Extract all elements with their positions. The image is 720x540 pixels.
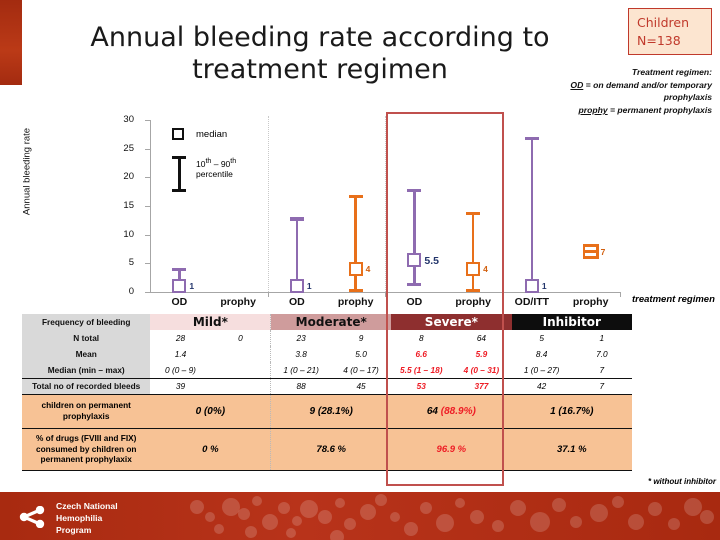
cell: 0 (0%) [150, 394, 270, 428]
cell: 9 [331, 330, 391, 346]
y-tick-15: 15 [108, 200, 134, 211]
group-separator [385, 116, 386, 292]
cell [211, 362, 271, 378]
cell: 0 [211, 330, 271, 346]
y-tick-20: 20 [108, 171, 134, 182]
cell: 1 [572, 330, 632, 346]
cell: 5.5 (1 – 18) [391, 362, 451, 378]
regimen-od-line: OD = on demand and/or temporary prophyla… [532, 79, 712, 104]
group-separator [503, 116, 504, 292]
logo-line-3: Program [56, 525, 118, 537]
logo-line-2: Hemophilia [56, 513, 118, 525]
cell: 8.4 [512, 346, 572, 362]
decorative-bubble [590, 504, 608, 522]
y-axis-line [150, 120, 151, 292]
decorative-bubble [530, 512, 550, 532]
row-label: % of drugs (FVIII and FIX) consumed by c… [22, 428, 150, 470]
error-bar-cap-upper [407, 189, 421, 192]
error-bar-stem [531, 137, 533, 292]
bleeding-statistics-table: Frequency of bleeding Mild* Moderate* Se… [22, 314, 632, 471]
point-marker [583, 244, 599, 259]
cell: 1.4 [150, 346, 210, 362]
decorative-bubble [245, 526, 257, 538]
cell: 1 (0 – 27) [512, 362, 572, 378]
median-marker [407, 253, 421, 267]
median-marker [290, 279, 304, 293]
legend-median-label: median [196, 129, 227, 140]
decorative-bubble [612, 496, 624, 508]
decorative-bubble [238, 508, 250, 520]
decorative-bubble [360, 504, 376, 520]
cell: 37.1 % [512, 428, 632, 470]
hemophilia-logo-icon [18, 506, 50, 528]
decorative-bubble [390, 512, 400, 522]
decorative-bubble [344, 518, 356, 530]
row-label: Total no of recorded bleeds [22, 378, 150, 394]
x-label-prophy-7: prophy [556, 296, 626, 308]
footer-bar: Czech National Hemophilia Program [0, 492, 720, 540]
decorative-bubble [570, 516, 582, 528]
cell: 377 [451, 378, 511, 394]
decorative-bubble [628, 514, 644, 530]
table-row: Mean 1.4 3.8 5.0 6.6 5.9 8.4 7.0 [22, 346, 632, 362]
error-bar-cap-lower [466, 289, 480, 292]
group-header-mild: Mild* [150, 314, 270, 330]
decorative-bubble [375, 494, 387, 506]
decorative-bubble [684, 498, 702, 516]
cell: 64 [451, 330, 511, 346]
cell: 88 [271, 378, 331, 394]
cell: 96.9 % [391, 428, 511, 470]
decorative-bubble [190, 500, 204, 514]
table-row: Median (min – max) 0 (0 – 9) 1 (0 – 21) … [22, 362, 632, 378]
cell: 6.6 [391, 346, 451, 362]
row-label: children on permanent prophylaxis [22, 394, 150, 428]
value-label: 1 [189, 281, 194, 291]
cell [211, 346, 271, 362]
cell: 53 [391, 378, 451, 394]
cell: 5.0 [331, 346, 391, 362]
decorative-bubble [318, 510, 332, 524]
od-term: OD [570, 80, 583, 90]
decorative-bubble [214, 524, 224, 534]
decorative-bubble [648, 502, 662, 516]
group-header-moderate: Moderate* [271, 314, 391, 330]
children-count-badge: Children N=138 [628, 8, 712, 55]
value-label: 4 [366, 264, 371, 274]
cell: 28 [150, 330, 210, 346]
decorative-bubble [278, 502, 290, 514]
footnote: * without inhibitor [648, 477, 716, 486]
group-header-severe: Severe* [391, 314, 511, 330]
error-bar-cap-lower [349, 289, 363, 292]
cell: 7 [572, 378, 632, 394]
decorative-bubble [335, 498, 345, 508]
value-label: 4 [483, 264, 488, 274]
decorative-bubble [404, 522, 418, 536]
footer-logo-text: Czech National Hemophilia Program [56, 501, 118, 537]
badge-line-children: Children [637, 14, 711, 32]
row-label: Frequency of bleeding [22, 314, 150, 330]
y-tick-5: 5 [108, 257, 134, 268]
value-label: 5.5 [424, 255, 439, 267]
decorative-bubble [252, 496, 262, 506]
decorative-bubble [292, 516, 302, 526]
cell: 7 [572, 362, 632, 378]
decorative-bubble [330, 530, 344, 540]
percentile-bar-icon [172, 156, 186, 192]
median-marker [466, 262, 480, 276]
bleeding-rate-chart: Annual bleeding rate 051015202530 1145.5… [0, 108, 720, 320]
cell: 4 (0 – 17) [331, 362, 391, 378]
row-label: Mean [22, 346, 150, 362]
decorative-bubble [300, 500, 318, 518]
decorative-bubble [205, 512, 215, 522]
value-label: 7 [601, 247, 606, 257]
value-label: 1 [542, 281, 547, 291]
cell: 64 (88.9%) [391, 394, 511, 428]
cell: 8 [391, 330, 451, 346]
decorative-bubble [286, 528, 296, 538]
decorative-bubble [700, 510, 714, 524]
cell: 5.9 [451, 346, 511, 362]
cell: 1 (16.7%) [512, 394, 632, 428]
page-title: Annual bleeding rate according to treatm… [55, 22, 585, 86]
decorative-bubble [262, 514, 278, 530]
cell: 23 [271, 330, 331, 346]
error-bar-cap-upper [349, 195, 363, 198]
decorative-bubble [510, 500, 526, 516]
median-marker [172, 279, 186, 293]
cell: 5 [512, 330, 572, 346]
row-label: Median (min – max) [22, 362, 150, 378]
decorative-bubble [668, 518, 680, 530]
median-marker [525, 279, 539, 293]
decorative-bubble [552, 498, 566, 512]
value-label: 1 [307, 281, 312, 291]
cell: 7.0 [572, 346, 632, 362]
error-bar-stem [413, 189, 415, 286]
error-bar-stem [354, 195, 356, 292]
cell: 0 (0 – 9) [150, 362, 210, 378]
error-bar-cap-upper [290, 217, 304, 220]
decorative-bubble [436, 514, 454, 532]
y-tick-10: 10 [108, 229, 134, 240]
od-definition: = on demand and/or temporary prophylaxis [583, 80, 712, 103]
logo-line-1: Czech National [56, 501, 118, 513]
group-separator [268, 116, 269, 292]
cell: 0 % [150, 428, 270, 470]
cell: 3.8 [271, 346, 331, 362]
median-marker [349, 262, 363, 276]
cell: 1 (0 – 21) [271, 362, 331, 378]
cell: 9 (28.1%) [271, 394, 391, 428]
y-axis-title: Annual bleeding rate [22, 97, 33, 247]
error-bar-cap-upper [172, 268, 186, 271]
table-row: children on permanent prophylaxis 0 (0%)… [22, 394, 632, 428]
cell [211, 378, 271, 394]
y-tick-0: 0 [108, 286, 134, 297]
decorative-bubble [420, 502, 432, 514]
legend-percentile-label: 10th – 90thpercentile [196, 157, 236, 180]
decorative-bubble [470, 510, 484, 524]
median-square-icon [172, 128, 184, 140]
decorative-bubble [492, 520, 504, 532]
cell: 78.6 % [271, 428, 391, 470]
error-bar-cap-upper [525, 137, 539, 140]
table-row: % of drugs (FVIII and FIX) consumed by c… [22, 428, 632, 470]
row-label: N total [22, 330, 150, 346]
y-tick-30: 30 [108, 114, 134, 125]
decorative-bubble [455, 498, 465, 508]
cell: 42 [512, 378, 572, 394]
error-bar-stem [472, 212, 474, 292]
table-row: Frequency of bleeding Mild* Moderate* Se… [22, 314, 632, 330]
cell: 4 (0 – 31) [451, 362, 511, 378]
table-row: Total no of recorded bleeds 39 88 45 53 … [22, 378, 632, 394]
y-tick-25: 25 [108, 143, 134, 154]
x-axis-caption: treatment regimen [632, 294, 718, 306]
table-row: N total 28 0 23 9 8 64 5 1 [22, 330, 632, 346]
group-header-inhibitor: Inhibitor [512, 314, 632, 330]
badge-line-n: N=138 [637, 32, 711, 50]
error-bar-cap-lower [407, 283, 421, 286]
cell: 45 [331, 378, 391, 394]
left-accent-bar [0, 0, 22, 85]
regimen-heading: Treatment regimen: [532, 66, 712, 79]
error-bar-cap-upper [466, 212, 480, 215]
cell: 39 [150, 378, 210, 394]
